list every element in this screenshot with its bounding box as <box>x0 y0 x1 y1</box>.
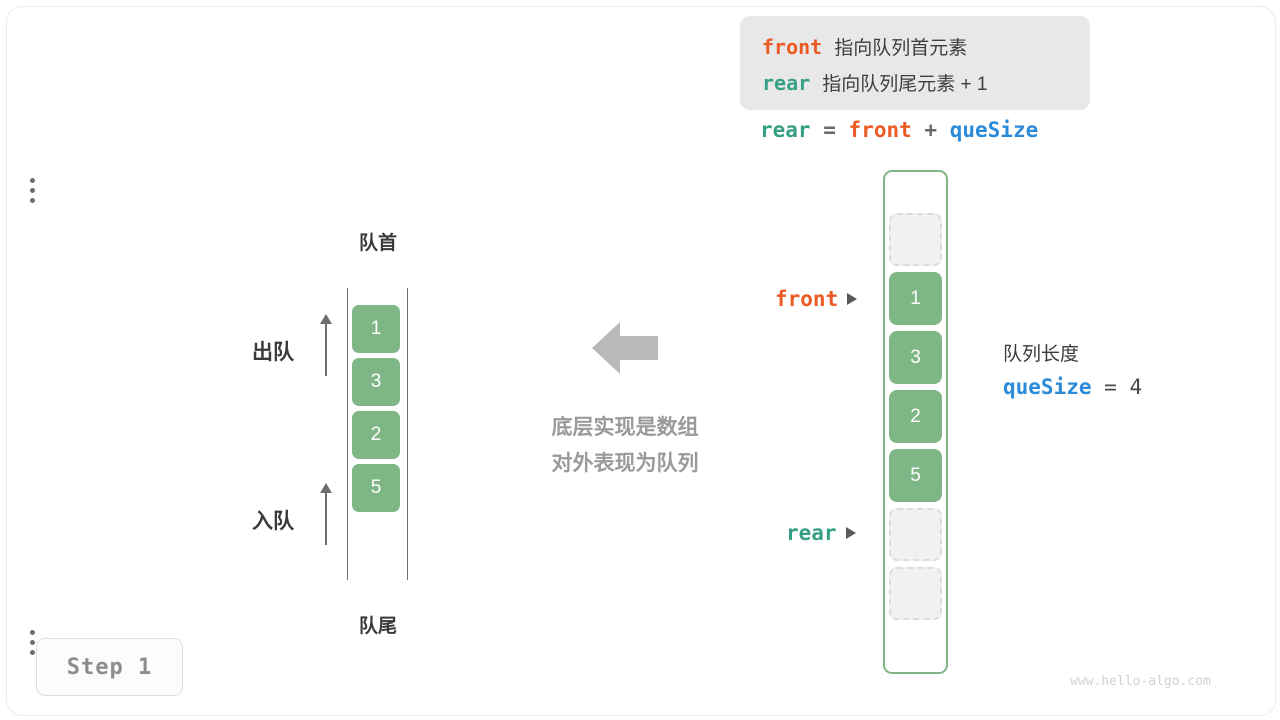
center-note-line1: 底层实现是数组 <box>500 410 750 446</box>
array-cell-filled: 5 <box>889 449 942 502</box>
rear-pointer-arrowhead-icon <box>846 527 856 539</box>
center-note-line2: 对外表现为队列 <box>500 446 750 482</box>
queue-cell: 5 <box>352 464 400 512</box>
diagram-canvas: front 指向队列首元素 rear 指向队列尾元素 + 1 rear = fr… <box>0 0 1280 720</box>
array-cell-empty <box>889 567 942 620</box>
array-cell-empty <box>889 508 942 561</box>
queue-size-caption: 队列长度 <box>1003 340 1142 370</box>
array-cell-filled: 3 <box>889 331 942 384</box>
legend-line-rear: rear 指向队列尾元素 + 1 <box>762 66 1090 102</box>
queue-cell: 1 <box>352 305 400 353</box>
front-description: 指向队列首元素 <box>834 38 967 59</box>
queue-size-note: 队列长度 queSize = 4 <box>1003 340 1142 404</box>
quesize-value: 4 <box>1129 375 1142 399</box>
enqueue-arrow-icon <box>318 483 334 545</box>
dequeue-arrow-icon <box>318 314 334 376</box>
formula-lhs: rear <box>760 118 811 142</box>
step-badge: Step 1 <box>36 638 183 696</box>
front-keyword: front <box>762 35 822 59</box>
center-note: 底层实现是数组 对外表现为队列 <box>500 410 750 482</box>
quesize-equals: = <box>1104 375 1117 399</box>
array-top-ellipsis-icon <box>0 178 65 203</box>
rear-pointer: rear <box>786 521 856 545</box>
watermark: www.hello-algo.com <box>1070 674 1211 689</box>
dequeue-label: 出队 <box>252 336 294 366</box>
array-cell-filled: 2 <box>889 390 942 443</box>
array-cell-filled: 1 <box>889 272 942 325</box>
quesize-variable: queSize <box>1003 375 1092 399</box>
legend-box: front 指向队列首元素 rear 指向队列尾元素 + 1 <box>740 16 1090 110</box>
formula-equals: = <box>823 118 836 142</box>
formula-quesize: queSize <box>950 118 1039 142</box>
rear-description: 指向队列尾元素 + 1 <box>822 74 987 95</box>
queue-head-label: 队首 <box>348 228 408 255</box>
enqueue-label: 入队 <box>252 505 294 535</box>
queue-tail-label: 队尾 <box>348 611 408 638</box>
queue-cell: 3 <box>352 358 400 406</box>
front-pointer-label: front <box>775 287 838 311</box>
queue-rail-left <box>347 288 348 580</box>
rear-formula: rear = front + queSize <box>760 118 1038 142</box>
formula-front: front <box>849 118 912 142</box>
rear-keyword: rear <box>762 71 810 95</box>
queue-rail-right <box>407 288 408 580</box>
queue-cell: 2 <box>352 411 400 459</box>
front-pointer: front <box>775 287 857 311</box>
array-cell-empty <box>889 213 942 266</box>
legend-line-front: front 指向队列首元素 <box>762 30 1090 66</box>
front-pointer-arrowhead-icon <box>847 293 857 305</box>
formula-plus: + <box>924 118 937 142</box>
rear-pointer-label: rear <box>786 521 837 545</box>
queue-size-expression: queSize = 4 <box>1003 370 1142 404</box>
left-arrow-icon <box>592 322 658 374</box>
